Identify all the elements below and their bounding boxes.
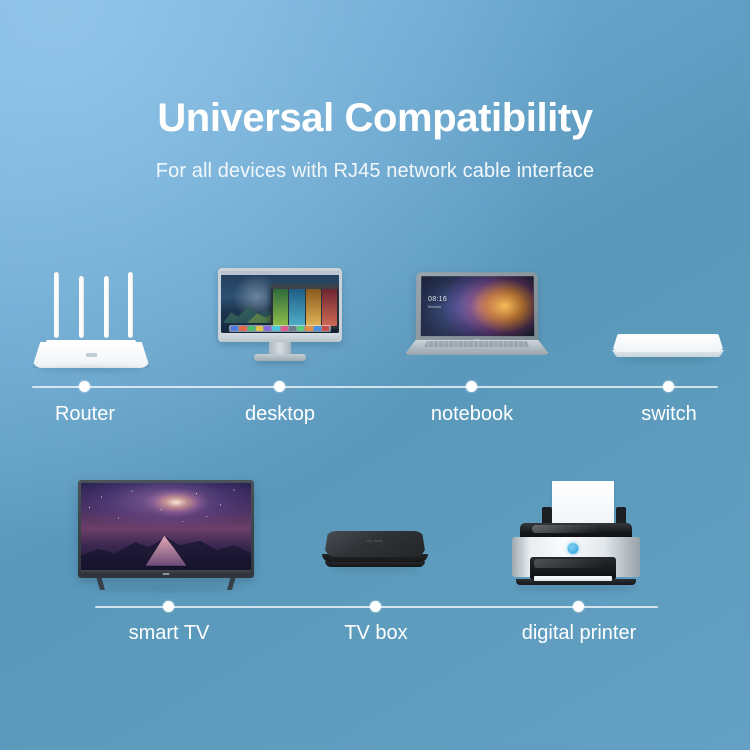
device-label-desktop: desktop [245, 403, 315, 426]
tv-shadow [92, 586, 240, 592]
desktop-photo-window [271, 284, 339, 329]
network-switch-icon [612, 334, 724, 366]
row1-connector-line [32, 386, 718, 388]
dock-icon [272, 326, 279, 331]
dock-icon [281, 326, 288, 331]
tv-frame [78, 480, 254, 578]
dock-icon [289, 326, 296, 331]
router-antenna-1 [54, 272, 59, 338]
row1-dot-switch [663, 381, 674, 392]
router-logo [86, 353, 97, 357]
row2-dot-smart-tv [163, 601, 174, 612]
laptop-clock-widget: 08:16 Monday [428, 296, 447, 308]
desktop-screen [221, 271, 339, 333]
router-antenna-4 [128, 272, 133, 338]
dock-icon [305, 326, 312, 331]
desktop-computer-icon [218, 268, 342, 372]
router-antenna-3 [104, 276, 109, 338]
laptop-keyboard [424, 341, 530, 347]
set-top-box-icon: mi box [322, 531, 428, 579]
dock-icon [322, 326, 329, 331]
desktop-stand-foot [254, 354, 306, 361]
row2-dot-digital-printer [573, 601, 584, 612]
printer-lid-highlight [532, 525, 598, 533]
dock-icon [256, 326, 263, 331]
photo-thumbnail [322, 289, 337, 326]
tv-brand-logo [163, 573, 170, 575]
window-titlebar [271, 284, 339, 289]
desktop-dock [229, 325, 331, 332]
device-label-smart-tv: smart TV [129, 622, 210, 645]
row1-dot-router [79, 381, 90, 392]
laptop-screen: 08:16 Monday [421, 276, 535, 336]
dock-icon [314, 326, 321, 331]
dock-icon [264, 326, 271, 331]
dock-icon [297, 326, 304, 331]
router-icon [32, 272, 150, 372]
laptop-icon: 08:16 Monday mi [404, 272, 550, 368]
laptop-lid: 08:16 Monday mi [416, 272, 539, 342]
desktop-display-bezel [218, 268, 342, 342]
dock-icon [231, 326, 238, 331]
row1-dot-desktop [274, 381, 285, 392]
dock-icon [248, 326, 255, 331]
router-antenna-2 [79, 276, 84, 338]
device-label-switch: switch [641, 403, 697, 426]
device-label-tv-box: TV box [344, 622, 407, 645]
infographic-canvas: Universal Compatibility For all devices … [0, 0, 750, 750]
photo-thumbnail [306, 289, 321, 326]
photo-thumbnail [289, 289, 304, 326]
page-subtitle: For all devices with RJ45 network cable … [0, 160, 750, 183]
tvbox-top-surface [324, 531, 426, 557]
page-title: Universal Compatibility [0, 96, 750, 141]
router-shadow [38, 367, 144, 372]
printer-icon [498, 481, 648, 591]
power-button-icon[interactable] [568, 543, 579, 554]
device-label-digital-printer: digital printer [522, 622, 637, 645]
row2-dot-tv-box [370, 601, 381, 612]
switch-top-surface [612, 334, 724, 352]
device-label-router: Router [55, 403, 115, 426]
television-icon [78, 480, 254, 590]
apple-logo-icon [277, 334, 283, 341]
printer-shadow [514, 584, 636, 591]
tvbox-brand-logo: mi box [367, 538, 382, 543]
printer-slot-highlight [534, 559, 604, 568]
row1-dot-notebook [466, 381, 477, 392]
desktop-menubar [221, 271, 339, 275]
tv-screen [81, 483, 251, 571]
laptop-trackpad [464, 349, 490, 352]
printer-output-tray [534, 576, 612, 581]
device-label-notebook: notebook [431, 403, 513, 426]
dock-icon [239, 326, 246, 331]
photo-thumbnail [273, 289, 288, 326]
